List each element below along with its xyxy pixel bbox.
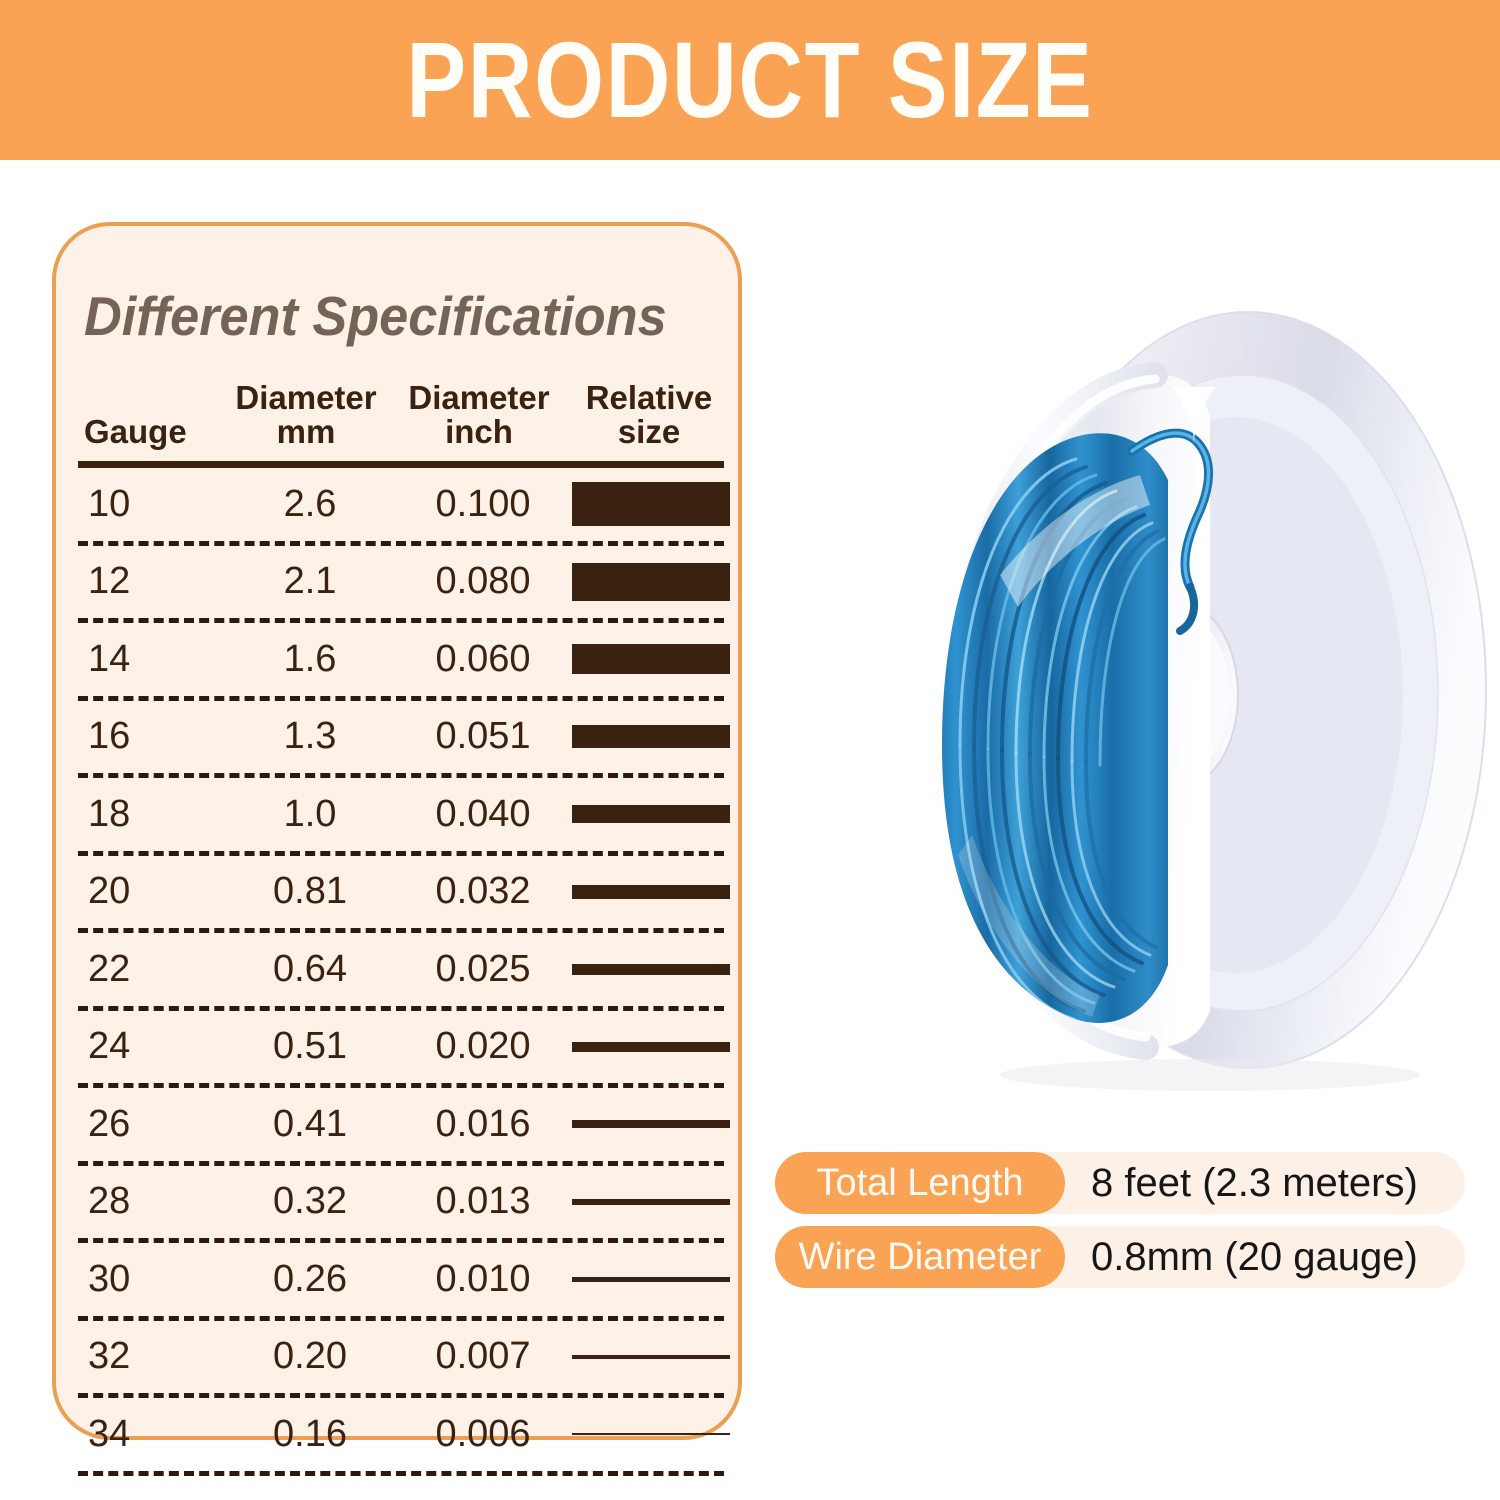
cell-diameter-inch: 0.051 [394,715,572,758]
relative-size-bar [572,725,730,748]
cell-relative-size [572,482,734,526]
table-row: 260.410.016 [78,1088,724,1161]
relative-size-bar [572,1277,730,1282]
table-row: 200.810.032 [78,856,724,929]
cell-diameter-inch: 0.013 [394,1180,572,1223]
cell-relative-size [572,964,734,975]
cell-diameter-mm: 2.6 [226,483,394,526]
spec-label-pill: Wire Diameter [775,1226,1065,1288]
column-header-diameter-inch-line1: Diameter [408,379,549,416]
cell-relative-size [572,563,734,601]
cell-diameter-inch: 0.006 [394,1413,572,1456]
relative-size-bar [572,964,730,975]
cell-diameter-mm: 0.64 [226,948,394,991]
cell-relative-size [572,1433,734,1435]
column-header-relative-size-line1: Relative [586,379,713,416]
relative-size-bar [572,1042,730,1052]
cell-diameter-mm: 1.6 [226,638,394,681]
cell-diameter-mm: 0.51 [226,1025,394,1068]
spec-row: Total Length8 feet (2.3 meters) [775,1152,1465,1214]
table-row: 300.260.010 [78,1243,724,1316]
cell-diameter-inch: 0.060 [394,638,572,681]
spec-value: 0.8mm (20 gauge) [1065,1235,1418,1280]
table-header-rule [78,461,724,468]
cell-relative-size [572,1355,734,1359]
table-row: 280.320.013 [78,1166,724,1239]
cell-diameter-inch: 0.007 [394,1335,572,1378]
cell-gauge: 34 [78,1413,226,1456]
relative-size-bar [572,482,730,526]
relative-size-bar [572,563,730,601]
column-header-diameter-inch: Diameter inch [390,381,568,452]
cell-gauge: 10 [78,483,226,526]
wire-spool-image [850,275,1500,1105]
product-spec-list: Total Length8 feet (2.3 meters)Wire Diam… [775,1152,1465,1300]
cell-diameter-inch: 0.080 [394,560,572,603]
cell-diameter-inch: 0.020 [394,1025,572,1068]
table-row: 240.510.020 [78,1011,724,1084]
cell-diameter-inch: 0.100 [394,483,572,526]
cell-relative-size [572,1120,734,1128]
cell-relative-size [572,1199,734,1205]
column-header-relative-size-line2: size [618,413,680,450]
cell-gauge: 30 [78,1258,226,1301]
cell-diameter-mm: 0.20 [226,1335,394,1378]
table-row: 141.60.060 [78,623,724,696]
cell-diameter-mm: 0.81 [226,870,394,913]
cell-gauge: 16 [78,715,226,758]
spec-label-pill: Total Length [775,1152,1065,1214]
gauge-table: Gauge Diameter mm Diameter inch Relative… [78,376,724,1476]
column-header-gauge: Gauge [78,415,222,452]
table-row: 161.30.051 [78,701,724,774]
column-header-relative-size: Relative size [568,381,730,452]
cell-gauge: 26 [78,1103,226,1146]
column-header-diameter-mm-line2: mm [277,413,336,450]
spec-row: Wire Diameter0.8mm (20 gauge) [775,1226,1465,1288]
relative-size-bar [572,1433,730,1435]
page-title: PRODUCT SIZE [128,0,1373,160]
cell-diameter-inch: 0.010 [394,1258,572,1301]
cell-relative-size [572,1277,734,1282]
table-body: 102.60.100122.10.080141.60.060161.30.051… [78,468,724,1476]
cell-gauge: 20 [78,870,226,913]
cell-relative-size [572,805,734,823]
cell-gauge: 28 [78,1180,226,1223]
relative-size-bar [572,885,730,899]
cell-relative-size [572,644,734,674]
cell-relative-size [572,1042,734,1052]
cell-gauge: 22 [78,948,226,991]
cell-gauge: 32 [78,1335,226,1378]
cell-diameter-inch: 0.016 [394,1103,572,1146]
table-row: 181.00.040 [78,778,724,851]
cell-relative-size [572,725,734,748]
cell-diameter-mm: 0.41 [226,1103,394,1146]
row-divider [78,1471,724,1476]
cell-relative-size [572,885,734,899]
column-header-diameter-inch-line2: inch [445,413,513,450]
table-row: 220.640.025 [78,933,724,1006]
cell-gauge: 14 [78,638,226,681]
cell-diameter-mm: 0.26 [226,1258,394,1301]
cell-diameter-mm: 2.1 [226,560,394,603]
cell-diameter-inch: 0.025 [394,948,572,991]
table-row: 320.200.007 [78,1321,724,1394]
cell-diameter-mm: 0.16 [226,1413,394,1456]
cell-diameter-inch: 0.032 [394,870,572,913]
cell-diameter-mm: 1.3 [226,715,394,758]
column-header-diameter-mm: Diameter mm [222,381,390,452]
table-row: 102.60.100 [78,468,724,541]
cell-gauge: 18 [78,793,226,836]
relative-size-bar [572,1355,730,1359]
page-header-banner: PRODUCT SIZE [0,0,1500,160]
column-header-gauge-label: Gauge [84,413,187,450]
card-title: Different Specifications [84,284,692,348]
cell-gauge: 12 [78,560,226,603]
table-header-row: Gauge Diameter mm Diameter inch Relative… [78,376,724,452]
cell-diameter-mm: 0.32 [226,1180,394,1223]
cell-diameter-mm: 1.0 [226,793,394,836]
specifications-card: Different Specifications Gauge Diameter … [52,222,742,1440]
column-header-diameter-mm-line1: Diameter [235,379,376,416]
relative-size-bar [572,1120,730,1128]
cell-gauge: 24 [78,1025,226,1068]
relative-size-bar [572,1199,730,1205]
table-row: 122.10.080 [78,546,724,619]
cell-diameter-inch: 0.040 [394,793,572,836]
table-row: 340.160.006 [78,1398,724,1471]
spec-value: 8 feet (2.3 meters) [1065,1161,1418,1206]
relative-size-bar [572,644,730,674]
relative-size-bar [572,805,730,823]
